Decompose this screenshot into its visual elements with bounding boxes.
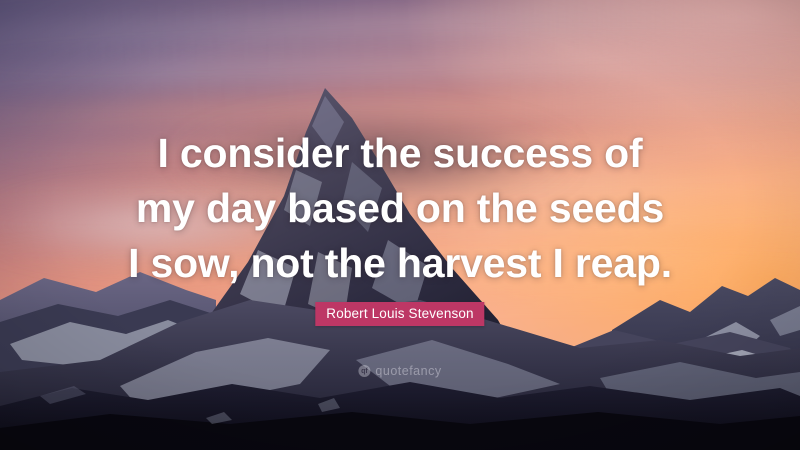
quote-card: I consider the success of my day based o… [0,0,800,450]
watermark: qf quotefancy [358,364,441,378]
quote-text: I consider the success of my day based o… [0,126,800,291]
quote-line-1: I consider the success of [0,126,800,181]
quotefancy-logo-icon: qf [358,365,370,377]
quote-line-3: I sow, not the harvest I reap. [0,236,800,291]
watermark-brand: quotefancy [375,364,441,378]
quote-line-2: my day based on the seeds [0,181,800,236]
author-badge: Robert Louis Stevenson [315,302,484,326]
